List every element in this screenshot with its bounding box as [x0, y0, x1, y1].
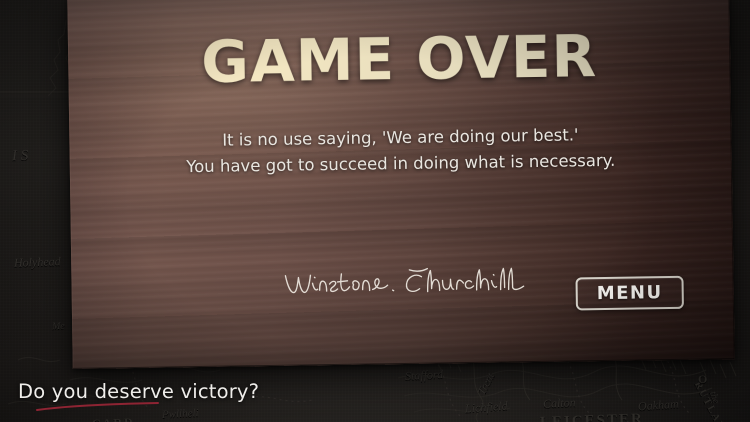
winston-churchill-signature	[281, 256, 532, 306]
wood-panel: GAME OVER It is no use saying, 'We are d…	[67, 0, 734, 369]
menu-button-label: MENU	[597, 282, 663, 304]
quote-block: It is no use saying, 'We are doing our b…	[109, 121, 692, 182]
panel-content: GAME OVER It is no use saying, 'We are d…	[67, 0, 734, 369]
signature-strokes	[281, 256, 532, 306]
menu-button[interactable]: MENU	[575, 276, 683, 311]
deserve-victory-question: Do you deserve victory?	[18, 380, 259, 404]
page-title: GAME OVER	[68, 25, 731, 93]
game-over-screen: I SHolyheadMeStaffordTrentLichfieldCalto…	[0, 0, 750, 422]
